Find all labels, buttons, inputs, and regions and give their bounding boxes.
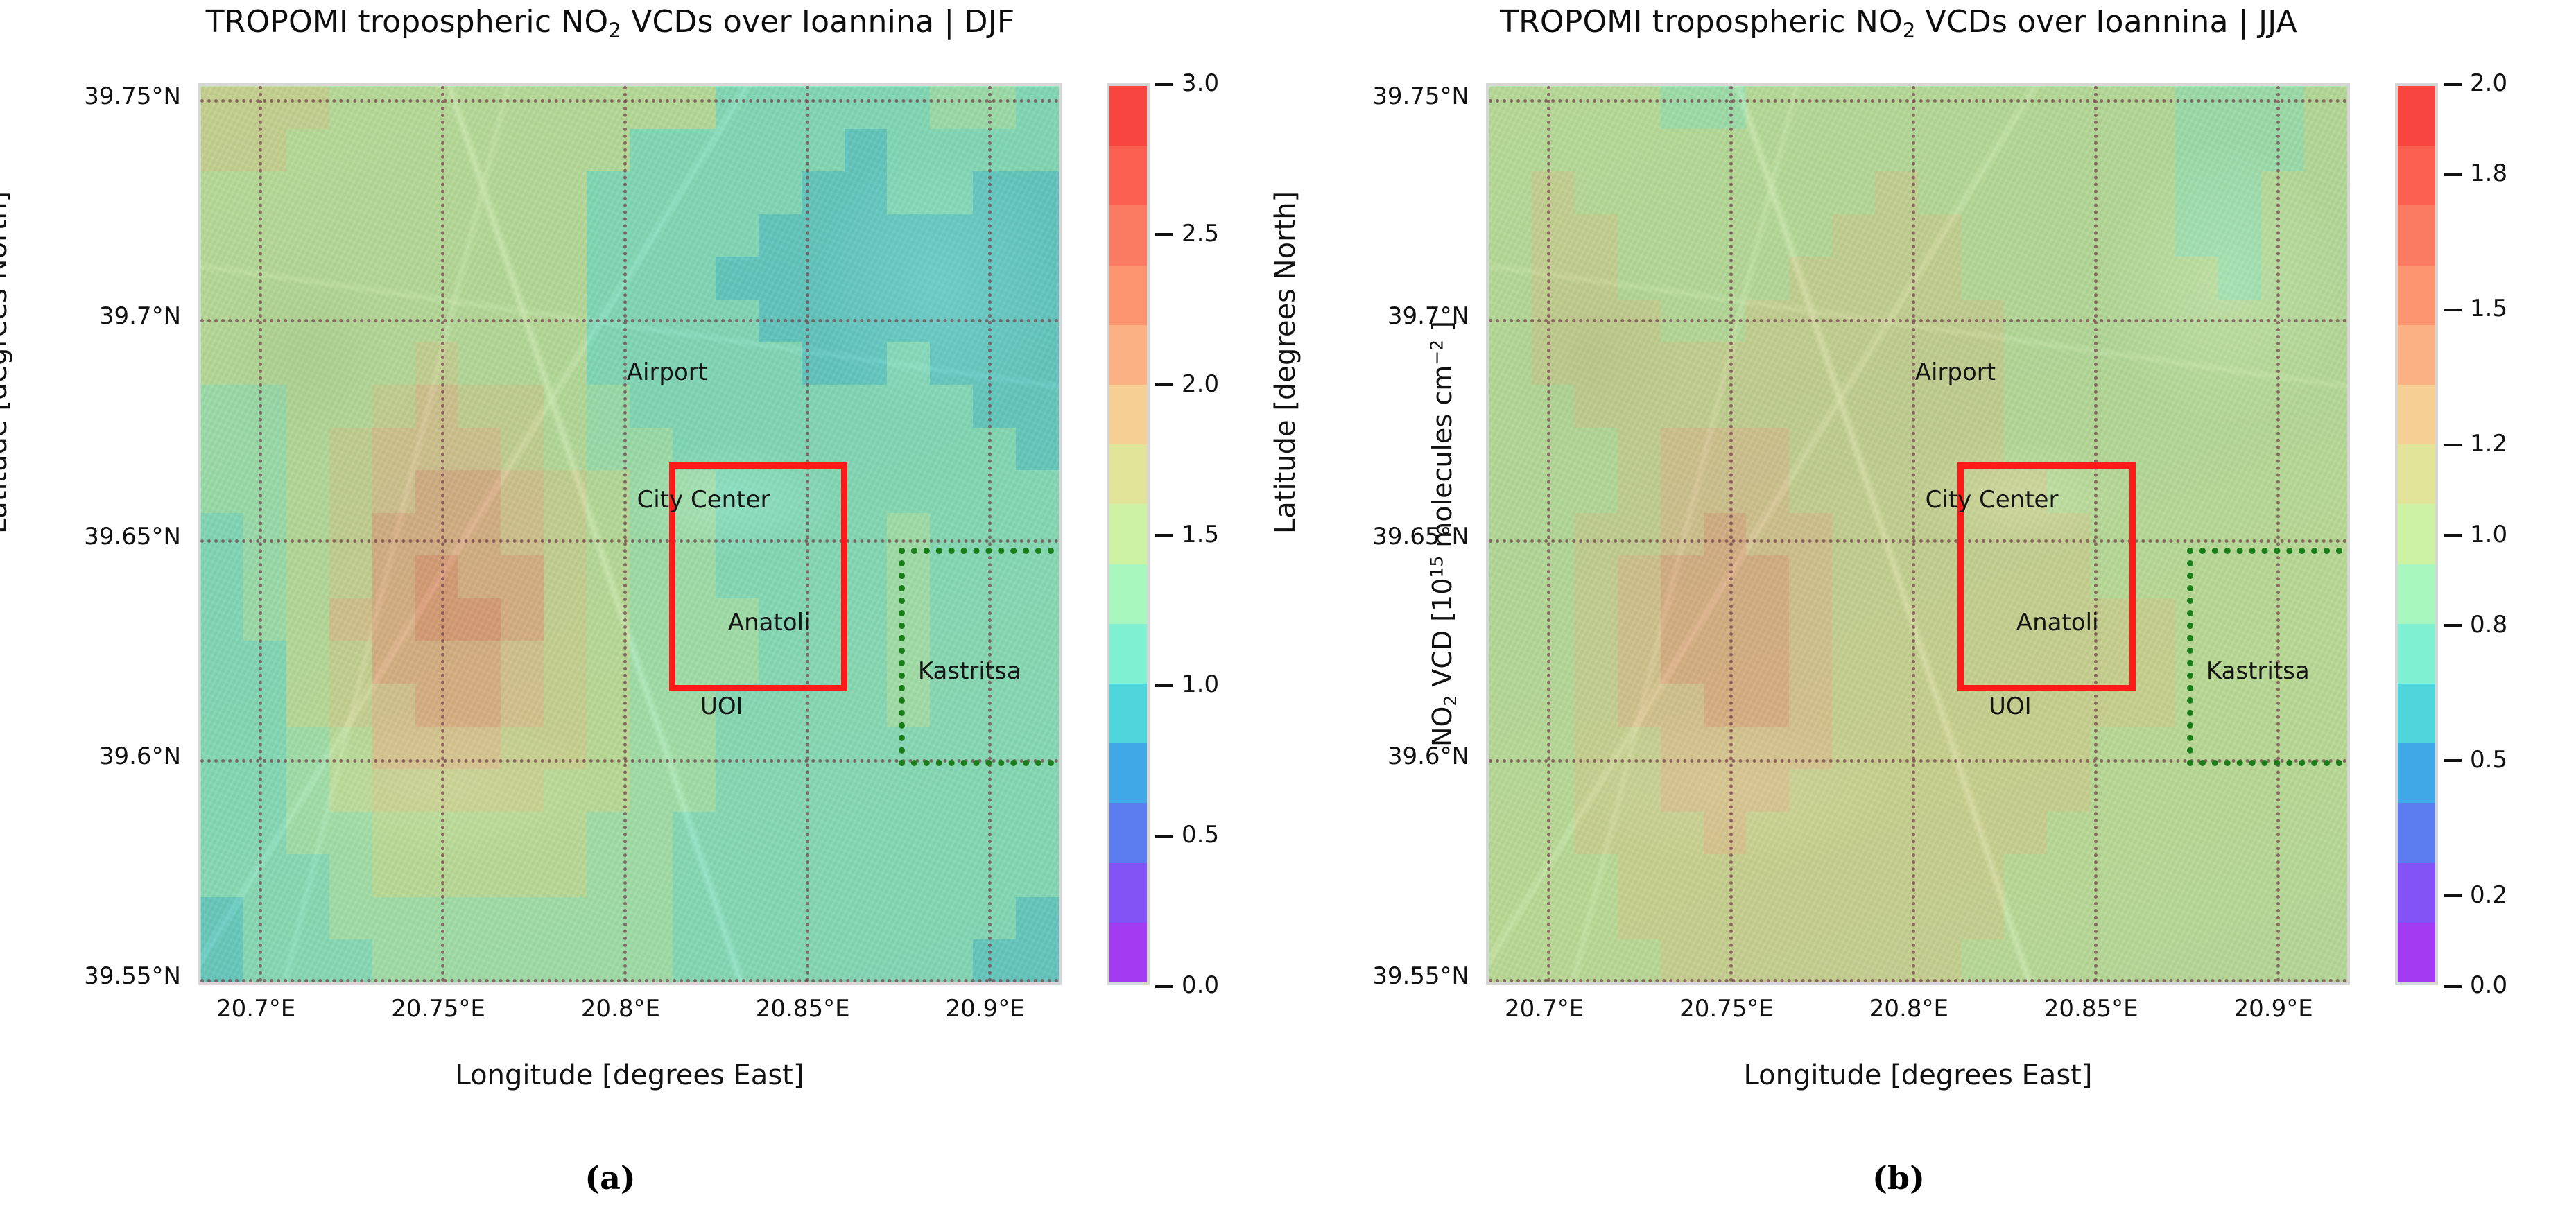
colorbar-tick-label: 1.5: [1182, 521, 1219, 548]
raster-cell: [372, 385, 415, 428]
raster-cell: [200, 641, 243, 684]
raster-cell: [1532, 171, 1575, 214]
raster-cell: [286, 769, 329, 812]
raster-cell: [2133, 812, 2176, 855]
raster-cell: [200, 86, 243, 129]
raster-cell: [372, 342, 415, 385]
raster-cell: [458, 812, 501, 855]
raster-cell: [1832, 897, 1875, 940]
raster-cell: [1575, 129, 1618, 172]
raster-cell: [1661, 171, 1704, 214]
x-tick-label: 20.75°E: [1679, 995, 1774, 1023]
raster-cell: [544, 854, 587, 897]
raster-cell: [2218, 257, 2261, 300]
raster-cell: [1789, 854, 1832, 897]
raster-cell: [2133, 598, 2176, 641]
graticule-line-horizontal: [1489, 979, 2347, 982]
map-label-airport: Airport: [1915, 358, 1996, 386]
raster-cell: [845, 684, 888, 727]
raster-cell: [372, 812, 415, 855]
title-prefix-a: TROPOMI tropospheric NO: [206, 4, 609, 40]
raster-cell: [1575, 470, 1618, 513]
raster-cell: [930, 939, 973, 982]
raster-cell: [544, 555, 587, 598]
x-tick-label: 20.85°E: [756, 995, 850, 1023]
raster-cell: [2304, 214, 2347, 257]
raster-cell: [2004, 897, 2047, 940]
raster-cell: [716, 171, 759, 214]
colorbar-tick: 0.0: [2444, 971, 2507, 999]
raster-cell: [372, 555, 415, 598]
colorbar-tick: 0.5: [2444, 746, 2507, 774]
y-tick-labels-a: 39.75°N39.7°N39.65°N39.6°N39.55°N: [0, 0, 191, 1232]
raster-cell: [1704, 129, 1747, 172]
raster-cell: [1918, 129, 1961, 172]
raster-cell: [200, 854, 243, 897]
raster-cell: [930, 385, 973, 428]
raster-cell: [1532, 598, 1575, 641]
raster-cell: [243, 257, 286, 300]
raster-cell: [286, 939, 329, 982]
raster-cell: [887, 812, 930, 855]
map-label-city-center: City Center: [637, 486, 770, 514]
raster-cell: [1746, 854, 1789, 897]
raster-cell: [200, 769, 243, 812]
raster-cell: [1532, 854, 1575, 897]
raster-cell: [1961, 385, 2004, 428]
raster-cell: [1618, 171, 1661, 214]
raster-cell: [2304, 129, 2347, 172]
raster-cell: [501, 214, 544, 257]
raster-cell: [415, 897, 458, 940]
raster-cell: [1832, 385, 1875, 428]
no2-raster-b: [1489, 86, 2347, 982]
raster-cell: [673, 86, 716, 129]
raster-cell: [2218, 129, 2261, 172]
raster-cell: [1704, 385, 1747, 428]
colorbar-tick-mark: [1155, 534, 1173, 537]
title-subscript-a: 2: [608, 19, 621, 42]
raster-cell: [673, 854, 716, 897]
y-tick-label: 39.65°N: [84, 523, 181, 550]
raster-cell: [1918, 812, 1961, 855]
raster-cell: [2133, 684, 2176, 727]
raster-cell: [2133, 513, 2176, 556]
raster-cell: [329, 769, 372, 812]
raster-cell: [759, 812, 802, 855]
raster-cell: [200, 470, 243, 513]
raster-cell: [329, 641, 372, 684]
raster-cell: [1661, 257, 1704, 300]
raster-cell: [501, 769, 544, 812]
raster-cell: [1704, 641, 1747, 684]
raster-cell: [2175, 257, 2218, 300]
raster-cell: [501, 854, 544, 897]
raster-cell: [1618, 86, 1661, 129]
colorbar-tick-label: 1.2: [2470, 430, 2507, 458]
raster-cell: [2175, 385, 2218, 428]
raster-cell: [1532, 769, 1575, 812]
raster-cell: [329, 555, 372, 598]
raster-cell: [759, 171, 802, 214]
raster-cell: [759, 769, 802, 812]
raster-cell: [845, 598, 888, 641]
raster-cell: [2304, 86, 2347, 129]
raster-cell: [1575, 684, 1618, 727]
raster-cell: [2218, 428, 2261, 471]
x-tick-label: 20.75°E: [391, 995, 485, 1023]
raster-cell: [415, 86, 458, 129]
graticule-line-horizontal: [200, 99, 1059, 103]
raster-cell: [973, 257, 1016, 300]
raster-cell: [286, 342, 329, 385]
colorbar-band: [1109, 86, 1147, 146]
x-axis-label-a: Longitude [degrees East]: [198, 1059, 1062, 1091]
raster-cell: [2047, 939, 2090, 982]
raster-cell: [200, 812, 243, 855]
raster-cell: [1746, 897, 1789, 940]
raster-cell: [2261, 939, 2304, 982]
raster-cell: [2175, 171, 2218, 214]
raster-cell: [415, 598, 458, 641]
raster-cell: [1575, 214, 1618, 257]
raster-cell: [1661, 428, 1704, 471]
raster-cell: [544, 641, 587, 684]
colorbar-tick: 1.2: [2444, 430, 2507, 458]
raster-cell: [1789, 214, 1832, 257]
raster-cell: [1832, 428, 1875, 471]
graticule-line-vertical: [1912, 86, 1915, 982]
raster-cell: [630, 854, 673, 897]
raster-cell: [501, 428, 544, 471]
x-tick-label: 20.9°E: [946, 995, 1025, 1023]
raster-cell: [1746, 641, 1789, 684]
raster-cell: [2175, 812, 2218, 855]
colorbar-tick: 1.0: [1155, 670, 1219, 698]
raster-cell: [1489, 470, 1532, 513]
x-axis-label-b: Longitude [degrees East]: [1486, 1059, 2350, 1091]
raster-cell: [286, 897, 329, 940]
colorbar-band: [2398, 146, 2435, 205]
raster-cell: [1918, 555, 1961, 598]
raster-cell: [930, 854, 973, 897]
raster-cell: [501, 555, 544, 598]
colorbar-tick: 0.2: [2444, 881, 2507, 909]
raster-cell: [630, 129, 673, 172]
raster-cell: [887, 129, 930, 172]
raster-cell: [1618, 641, 1661, 684]
colorbar-tick-mark: [1155, 684, 1173, 687]
raster-cell: [1832, 684, 1875, 727]
graticule-line-horizontal: [1489, 99, 2347, 103]
raster-cell: [716, 129, 759, 172]
raster-cell: [887, 854, 930, 897]
raster-cell: [1016, 342, 1059, 385]
raster-cell: [673, 171, 716, 214]
raster-cell: [372, 939, 415, 982]
raster-cell: [1746, 769, 1789, 812]
raster-cell: [458, 939, 501, 982]
raster-cell: [1532, 641, 1575, 684]
raster-cell: [544, 513, 587, 556]
raster-cell: [1618, 428, 1661, 471]
raster-cell: [1918, 171, 1961, 214]
colorbar-tick-mark: [1155, 233, 1173, 236]
raster-cell: [1618, 684, 1661, 727]
raster-cell: [1618, 385, 1661, 428]
raster-cell: [1918, 257, 1961, 300]
graticule-line-horizontal: [200, 539, 1059, 543]
raster-cell: [2133, 769, 2176, 812]
colorbar-tick: 3.0: [1155, 69, 1219, 97]
raster-cell: [1789, 684, 1832, 727]
raster-cell: [1575, 854, 1618, 897]
raster-cell: [1016, 470, 1059, 513]
raster-cell: [1661, 385, 1704, 428]
raster-cell: [759, 86, 802, 129]
raster-cell: [1661, 470, 1704, 513]
raster-cell: [286, 812, 329, 855]
raster-cell: [2261, 214, 2304, 257]
raster-cell: [1532, 470, 1575, 513]
raster-cell: [1532, 939, 1575, 982]
raster-cell: [243, 939, 286, 982]
raster-cell: [887, 214, 930, 257]
raster-cell: [2304, 897, 2347, 940]
raster-cell: [1704, 428, 1747, 471]
raster-cell: [329, 939, 372, 982]
colorbar-tick: 1.0: [2444, 521, 2507, 548]
raster-cell: [243, 769, 286, 812]
raster-cell: [716, 769, 759, 812]
raster-cell: [286, 257, 329, 300]
raster-cell: [1661, 769, 1704, 812]
raster-cell: [2175, 939, 2218, 982]
raster-cell: [501, 86, 544, 129]
raster-cell: [1532, 214, 1575, 257]
raster-cell: [1704, 684, 1747, 727]
raster-cell: [1789, 129, 1832, 172]
graticule-line-vertical: [1729, 86, 1733, 982]
raster-cell: [887, 86, 930, 129]
raster-cell: [845, 257, 888, 300]
raster-cell: [2218, 939, 2261, 982]
raster-cell: [372, 214, 415, 257]
raster-cell: [458, 470, 501, 513]
raster-cell: [415, 470, 458, 513]
raster-cell: [2133, 86, 2176, 129]
raster-cell: [2175, 769, 2218, 812]
raster-cell: [630, 428, 673, 471]
raster-cell: [2218, 86, 2261, 129]
raster-cell: [973, 428, 1016, 471]
raster-cell: [544, 812, 587, 855]
y-tick-label: 39.65°N: [1372, 523, 1469, 550]
raster-cell: [1489, 513, 1532, 556]
colorbar-tick-label: 0.5: [1182, 821, 1219, 849]
raster-cell: [2261, 769, 2304, 812]
raster-cell: [1832, 86, 1875, 129]
raster-cell: [200, 428, 243, 471]
graticule-line-horizontal: [1489, 319, 2347, 322]
raster-cell: [973, 385, 1016, 428]
raster-cell: [759, 897, 802, 940]
colorbar-band: [1109, 205, 1147, 265]
raster-cell: [2218, 897, 2261, 940]
raster-cell: [415, 513, 458, 556]
raster-cell: [1575, 257, 1618, 300]
raster-cell: [2261, 428, 2304, 471]
raster-cell: [2047, 129, 2090, 172]
graticule-line-vertical: [623, 86, 627, 982]
raster-cell: [1489, 812, 1532, 855]
raster-cell: [973, 342, 1016, 385]
y-tick-label: 39.75°N: [1372, 83, 1469, 110]
raster-cell: [673, 897, 716, 940]
map-label-city-center: City Center: [1926, 486, 2059, 514]
map-axes-a[interactable]: AirportCity CenterAnatoliUOIKastritsa: [198, 83, 1062, 985]
raster-cell: [1575, 86, 1618, 129]
raster-cell: [1618, 342, 1661, 385]
raster-cell: [458, 214, 501, 257]
colorbar-tick-label: 0.0: [2470, 971, 2507, 999]
colorbar-tick-label: 1.5: [2470, 295, 2507, 322]
colorbar-tick-label: 1.8: [2470, 159, 2507, 187]
raster-cell: [1532, 684, 1575, 727]
raster-cell: [1661, 342, 1704, 385]
raster-cell: [544, 897, 587, 940]
raster-cell: [1832, 171, 1875, 214]
raster-cell: [1746, 428, 1789, 471]
raster-cell: [1918, 769, 1961, 812]
raster-cell: [1016, 257, 1059, 300]
colorbar-tick: 1.5: [1155, 521, 1219, 548]
raster-cell: [1832, 342, 1875, 385]
raster-cell: [1532, 342, 1575, 385]
raster-cell: [286, 684, 329, 727]
raster-cell: [630, 385, 673, 428]
raster-cell: [2133, 555, 2176, 598]
raster-cell: [200, 129, 243, 172]
raster-cell: [1961, 171, 2004, 214]
raster-cell: [2218, 854, 2261, 897]
raster-cell: [415, 129, 458, 172]
figure-root: TROPOMI tropospheric NO2 VCDs over Ioann…: [0, 0, 2576, 1232]
map-axes-b[interactable]: AirportCity CenterAnatoliUOIKastritsa: [1486, 83, 2350, 985]
raster-cell: [1789, 428, 1832, 471]
raster-cell: [2175, 214, 2218, 257]
colorbar-a: [1107, 83, 1150, 985]
raster-cell: [2047, 86, 2090, 129]
raster-cell: [2175, 129, 2218, 172]
raster-cell: [630, 555, 673, 598]
raster-cell: [415, 555, 458, 598]
raster-cell: [2261, 897, 2304, 940]
raster-cell: [1918, 428, 1961, 471]
colorbar-tick-mark: [2444, 309, 2462, 311]
raster-cell: [1746, 342, 1789, 385]
raster-cell: [415, 385, 458, 428]
raster-cell: [1618, 769, 1661, 812]
raster-cell: [200, 513, 243, 556]
raster-cell: [1789, 470, 1832, 513]
raster-cell: [1832, 214, 1875, 257]
raster-cell: [243, 513, 286, 556]
raster-cell: [1961, 257, 2004, 300]
raster-cell: [243, 342, 286, 385]
raster-cell: [1489, 854, 1532, 897]
graticule-line-horizontal: [200, 319, 1059, 322]
y-tick-label: 39.7°N: [99, 302, 181, 330]
raster-cell: [2218, 812, 2261, 855]
raster-cell: [1832, 641, 1875, 684]
raster-cell: [1661, 598, 1704, 641]
raster-cell: [1746, 939, 1789, 982]
raster-cell: [930, 897, 973, 940]
raster-cell: [716, 86, 759, 129]
colorbar-band: [2398, 863, 2435, 923]
raster-cell: [372, 513, 415, 556]
raster-cell: [501, 342, 544, 385]
colorbar-band: [2398, 564, 2435, 624]
raster-cell: [544, 769, 587, 812]
raster-cell: [243, 385, 286, 428]
raster-cell: [329, 428, 372, 471]
raster-cell: [887, 257, 930, 300]
graticule-line-vertical: [2276, 86, 2280, 982]
raster-cell: [2304, 257, 2347, 300]
raster-cell: [2261, 812, 2304, 855]
colorbar-tick-mark: [2444, 534, 2462, 537]
raster-cell: [1789, 342, 1832, 385]
raster-cell: [2218, 342, 2261, 385]
raster-cell: [716, 385, 759, 428]
raster-cell: [973, 939, 1016, 982]
raster-cell: [930, 342, 973, 385]
raster-cell: [415, 939, 458, 982]
raster-cell: [1918, 897, 1961, 940]
raster-cell: [501, 812, 544, 855]
raster-cell: [200, 555, 243, 598]
raster-cell: [544, 129, 587, 172]
raster-cell: [1704, 812, 1747, 855]
raster-cell: [845, 939, 888, 982]
raster-cell: [1575, 428, 1618, 471]
colorbar-band: [1109, 803, 1147, 862]
raster-cell: [1832, 769, 1875, 812]
raster-cell: [930, 214, 973, 257]
raster-cell: [1575, 641, 1618, 684]
raster-cell: [1832, 470, 1875, 513]
graticule-line-vertical: [988, 86, 992, 982]
raster-cell: [2047, 342, 2090, 385]
colorbar-band: [1109, 743, 1147, 803]
raster-cell: [1489, 171, 1532, 214]
raster-cell: [1832, 939, 1875, 982]
raster-cell: [1489, 897, 1532, 940]
raster-cell: [845, 342, 888, 385]
raster-cell: [930, 769, 973, 812]
raster-cell: [286, 129, 329, 172]
raster-cell: [286, 555, 329, 598]
raster-cell: [845, 769, 888, 812]
colorbar-band: [1109, 504, 1147, 564]
raster-cell: [458, 171, 501, 214]
raster-cell: [930, 257, 973, 300]
raster-cell: [1016, 939, 1059, 982]
raster-cell: [1489, 641, 1532, 684]
raster-cell: [1661, 214, 1704, 257]
